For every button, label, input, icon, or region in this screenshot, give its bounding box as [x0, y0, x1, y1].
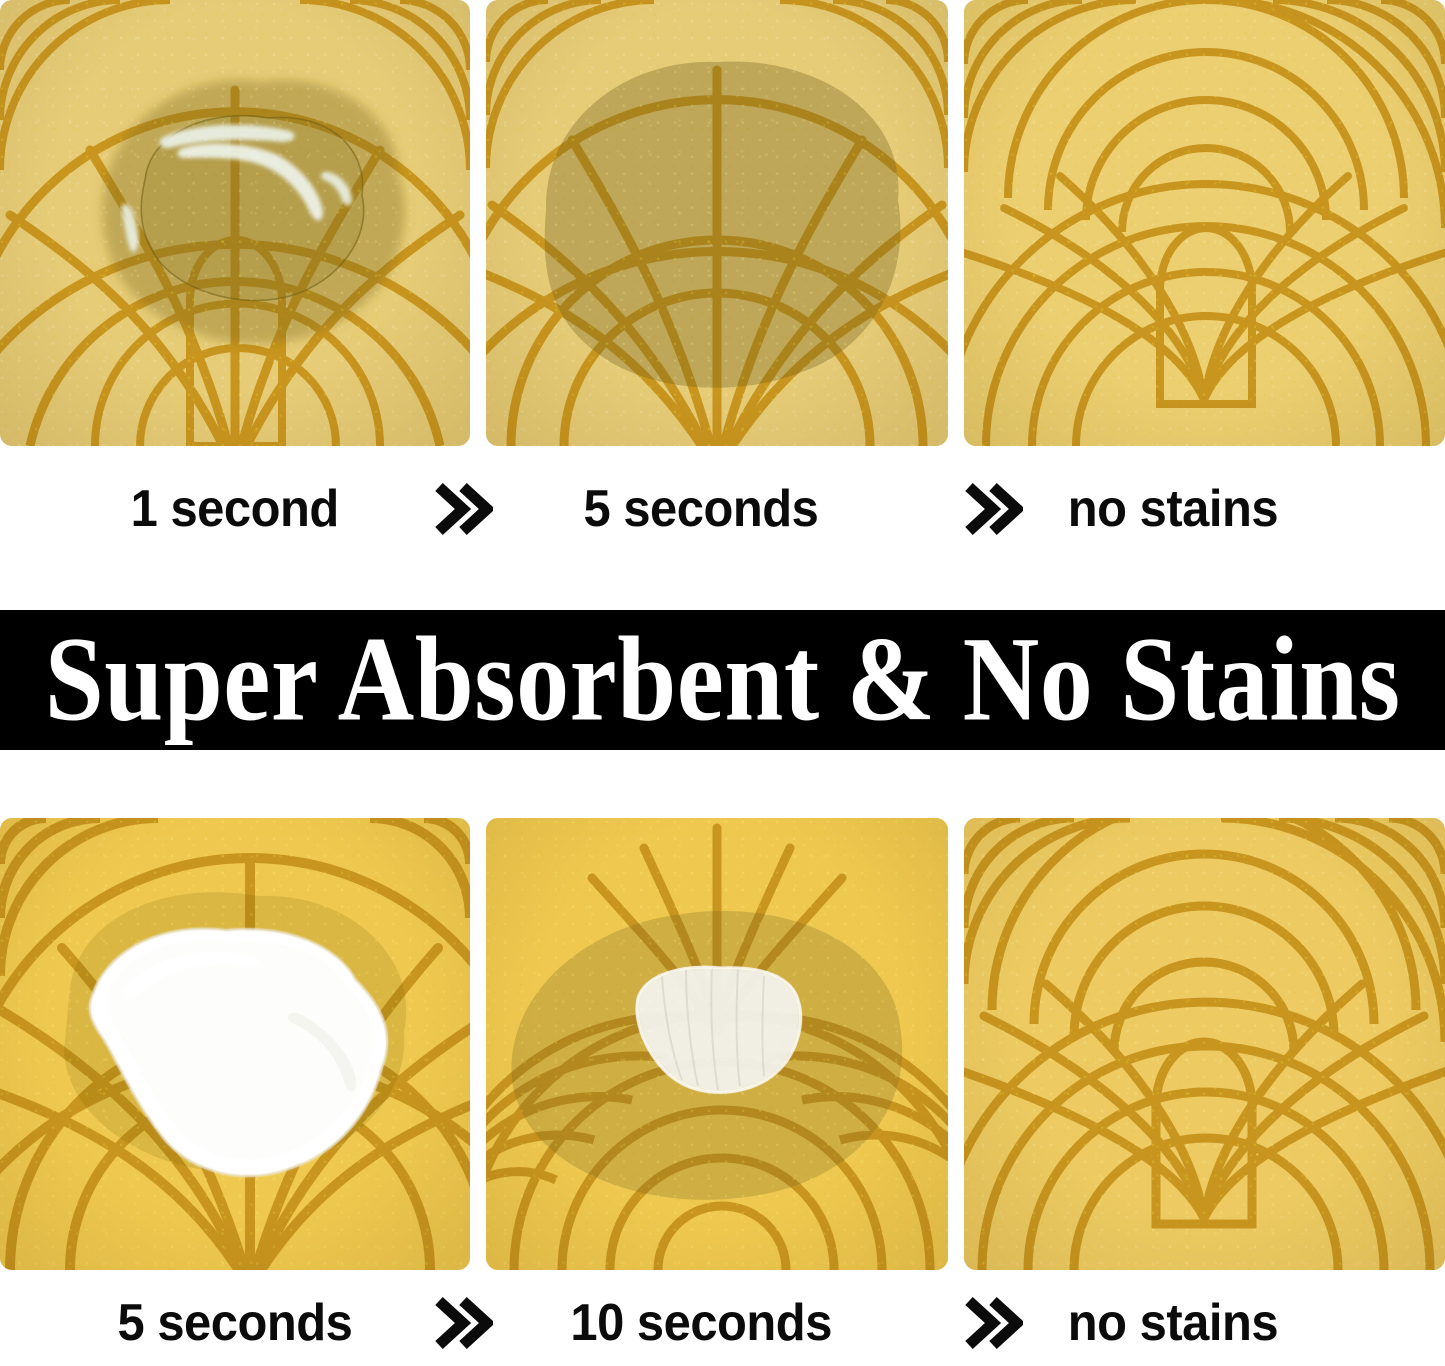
- tile-water-5-seconds: [486, 0, 948, 446]
- photo-row-water: [0, 0, 1445, 446]
- tile-milk-5-seconds: [0, 818, 470, 1270]
- caption-water-step-1: 1 second: [131, 483, 339, 535]
- photo-row-milk: [0, 818, 1445, 1270]
- tile-water-no-stains: [964, 0, 1445, 446]
- double-chevron-right-icon: [962, 1292, 1024, 1354]
- double-chevron-right-icon: [432, 478, 494, 540]
- tile-milk-10-seconds: [486, 818, 948, 1270]
- caption-row-milk: 5 seconds 10 seconds no stains: [0, 1280, 1445, 1366]
- caption-water-step-2: 5 seconds: [584, 483, 819, 535]
- headline-text: Super Absorbent & No Stains: [45, 620, 1401, 741]
- mat-pattern-graphic: [964, 0, 1445, 446]
- double-chevron-right-icon: [962, 478, 1024, 540]
- caption-milk-step-1: 5 seconds: [118, 1297, 353, 1349]
- tile-water-1-second: [0, 0, 470, 446]
- mat-pattern-graphic: [486, 818, 948, 1270]
- caption-cell-4: 5 seconds: [0, 1280, 470, 1366]
- mat-pattern-graphic: [964, 818, 1445, 1270]
- mat-pattern-graphic: [486, 0, 948, 446]
- caption-milk-step-2: 10 seconds: [570, 1297, 832, 1349]
- double-chevron-right-icon: [432, 1292, 494, 1354]
- tile-milk-no-stains: [964, 818, 1445, 1270]
- caption-cell-5: 10 seconds: [470, 1280, 932, 1366]
- mat-pattern-graphic: [0, 0, 470, 446]
- caption-cell-1: 1 second: [0, 466, 470, 552]
- caption-milk-step-3: no stains: [1067, 1297, 1277, 1349]
- mat-pattern-graphic: [0, 818, 470, 1270]
- infographic-sheet: 1 second 5 seconds no stains Super Absor…: [0, 0, 1445, 1353]
- caption-water-step-3: no stains: [1067, 483, 1277, 535]
- caption-cell-2: 5 seconds: [470, 466, 932, 552]
- headline-banner: Super Absorbent & No Stains: [0, 610, 1445, 750]
- caption-row-water: 1 second 5 seconds no stains: [0, 466, 1445, 552]
